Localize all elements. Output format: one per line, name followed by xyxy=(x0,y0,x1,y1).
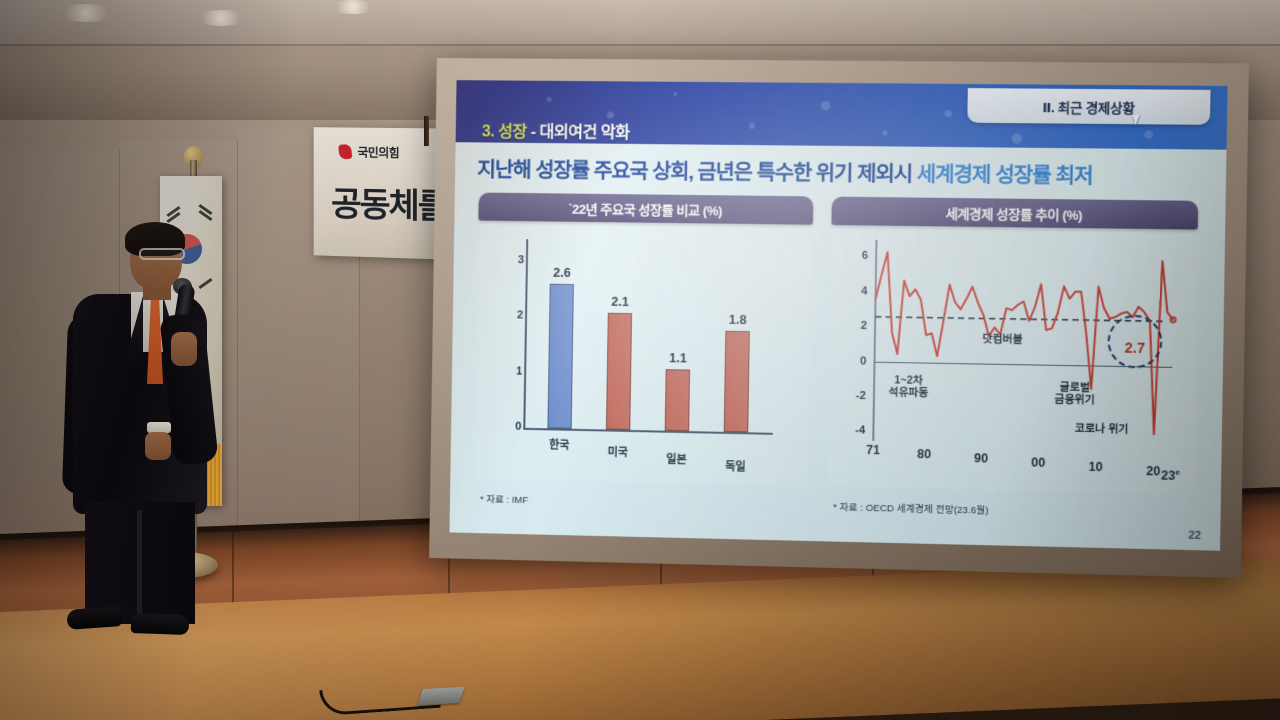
bar-chart-value-label: 2.1 xyxy=(600,294,641,309)
banner-mount xyxy=(424,116,429,146)
section-tab-label: Ⅱ. 최근 경제상황 xyxy=(1042,96,1135,116)
section-tab[interactable]: Ⅱ. 최근 경제상황 xyxy=(967,88,1210,125)
slide-headline: 지난해 성장률 주요국 상회, 금년은 특수한 위기 제외시 세계경제 성장률 … xyxy=(477,152,1212,190)
bar-chart-y-tick: 1 xyxy=(502,365,522,377)
line-chart-annotation: 코로나 위기 xyxy=(1075,422,1129,435)
slide-page-number: 22 xyxy=(1188,529,1201,542)
headline-accent: 세계경제 성장률 최저 xyxy=(917,163,1093,188)
bar-chart-bar xyxy=(665,369,690,431)
ceiling xyxy=(0,0,1280,46)
banner-logo: 국민의힘 xyxy=(339,143,399,161)
bar-chart-value-label: 2.6 xyxy=(542,266,583,281)
line-chart-body: 2.7 6420-2-471809000102023e1~2차 석유파동닷컴버블… xyxy=(827,225,1198,495)
line-chart-y-tick: 0 xyxy=(844,355,867,368)
presenter-leg-seam xyxy=(137,510,142,614)
party-logo-icon xyxy=(338,144,352,160)
presenter xyxy=(55,222,225,630)
ceiling-light xyxy=(330,0,376,14)
bar-chart-value-label: 1.8 xyxy=(717,313,758,328)
kicker-title: 성장 xyxy=(498,124,527,141)
bar-chart-y-axis xyxy=(523,239,528,430)
bar-chart-y-tick: 2 xyxy=(503,310,523,322)
bar-chart-title-bar: `22년 주요국 성장률 비교 (%) xyxy=(478,193,813,225)
bar-chart-value-label: 1.1 xyxy=(658,351,699,366)
kicker-number: 3. xyxy=(482,123,495,140)
line-chart-annotation: 글로벌 금융위기 xyxy=(1054,381,1095,406)
presenter-shoe xyxy=(131,613,190,635)
bar-chart-title: `22년 주요국 성장률 비교 (%) xyxy=(568,198,722,219)
ceiling-light xyxy=(58,4,114,22)
party-logo-label: 국민의힘 xyxy=(357,144,399,162)
bar-chart-category-label: 일본 xyxy=(652,451,701,468)
line-chart-x-tick: 71 xyxy=(855,443,890,458)
line-chart-x-tick: 23e xyxy=(1153,467,1189,483)
bar-chart-category-label: 독일 xyxy=(711,458,760,475)
line-chart-y-tick: 6 xyxy=(845,250,868,262)
banner-headline: 공동체를 xyxy=(331,177,447,229)
bar-chart-body: 32102.6한국2.1미국1.1일본1.8독일 xyxy=(474,221,813,487)
line-chart: 2.7 6420-2-471809000102023e1~2차 석유파동닷컴버블… xyxy=(827,225,1198,495)
line-chart-x-tick: 10 xyxy=(1078,459,1114,474)
bar-chart: 32102.6한국2.1미국1.1일본1.8독일 xyxy=(474,221,813,487)
line-chart-y-tick: 4 xyxy=(845,285,868,298)
line-chart-annotation: 1~2차 석유파동 xyxy=(888,374,928,399)
bar-chart-y-tick: 0 xyxy=(501,420,521,432)
ceiling-seam xyxy=(0,44,1280,46)
line-chart-x-tick: 80 xyxy=(906,447,941,462)
headline-main: 지난해 성장률 주요국 상회, 금년은 특수한 위기 제외시 xyxy=(477,158,917,186)
ceiling-light xyxy=(196,10,246,26)
line-chart-panel: 세계경제 성장률 추이 (%) 2.7 6420-2-4718090001020… xyxy=(827,197,1198,520)
bar-chart-category-label: 미국 xyxy=(593,443,642,460)
bar-chart-category-label: 한국 xyxy=(535,436,584,453)
presentation-slide: Ⅱ. 최근 경제상황 3. 성장 - 대외여건 악화 지난해 성장률 주요국 상… xyxy=(449,80,1227,551)
bar-chart-source-note: * 자료 : IMF xyxy=(480,491,528,506)
line-chart-x-tick: 00 xyxy=(1020,455,1056,470)
bar-chart-y-tick: 3 xyxy=(504,254,524,266)
slide-top-bar: Ⅱ. 최근 경제상황 3. 성장 - 대외여건 악화 xyxy=(456,80,1228,150)
slide-kicker: 3. 성장 - 대외여건 악화 xyxy=(482,117,630,142)
bar-chart-bar xyxy=(606,313,632,430)
conference-room-scene: 국민의힘 공동체를 xyxy=(0,0,1280,720)
projection-screen: Ⅱ. 최근 경제상황 3. 성장 - 대외여건 악화 지난해 성장률 주요국 상… xyxy=(429,58,1249,578)
glasses-icon xyxy=(139,248,185,260)
line-chart-annotation: 닷컴버블 xyxy=(982,333,1022,346)
line-chart-y-tick: -2 xyxy=(843,390,866,403)
line-chart-x-tick: 90 xyxy=(963,451,999,466)
callout-value: 2.7 xyxy=(1124,339,1145,356)
line-chart-title: 세계경제 성장률 추이 (%) xyxy=(945,202,1082,223)
line-chart-y-tick: 2 xyxy=(844,320,867,333)
presenter-right-hand xyxy=(171,332,197,366)
floor-outlet xyxy=(417,687,464,705)
bar-chart-bar xyxy=(724,331,750,432)
line-chart-source-note: * 자료 : OECD 세계경제 전망(23.6월) xyxy=(833,499,989,517)
presenter-shoe xyxy=(66,606,121,630)
presenter-left-hand xyxy=(145,432,171,460)
bar-chart-bar xyxy=(547,284,573,429)
line-chart-title-bar: 세계경제 성장률 추이 (%) xyxy=(831,197,1198,230)
kicker-rest: - 대외여건 악화 xyxy=(531,124,630,142)
line-chart-y-tick: -4 xyxy=(842,424,865,437)
bar-chart-panel: `22년 주요국 성장률 비교 (%) 32102.6한국2.1미국1.1일본1… xyxy=(474,193,813,511)
